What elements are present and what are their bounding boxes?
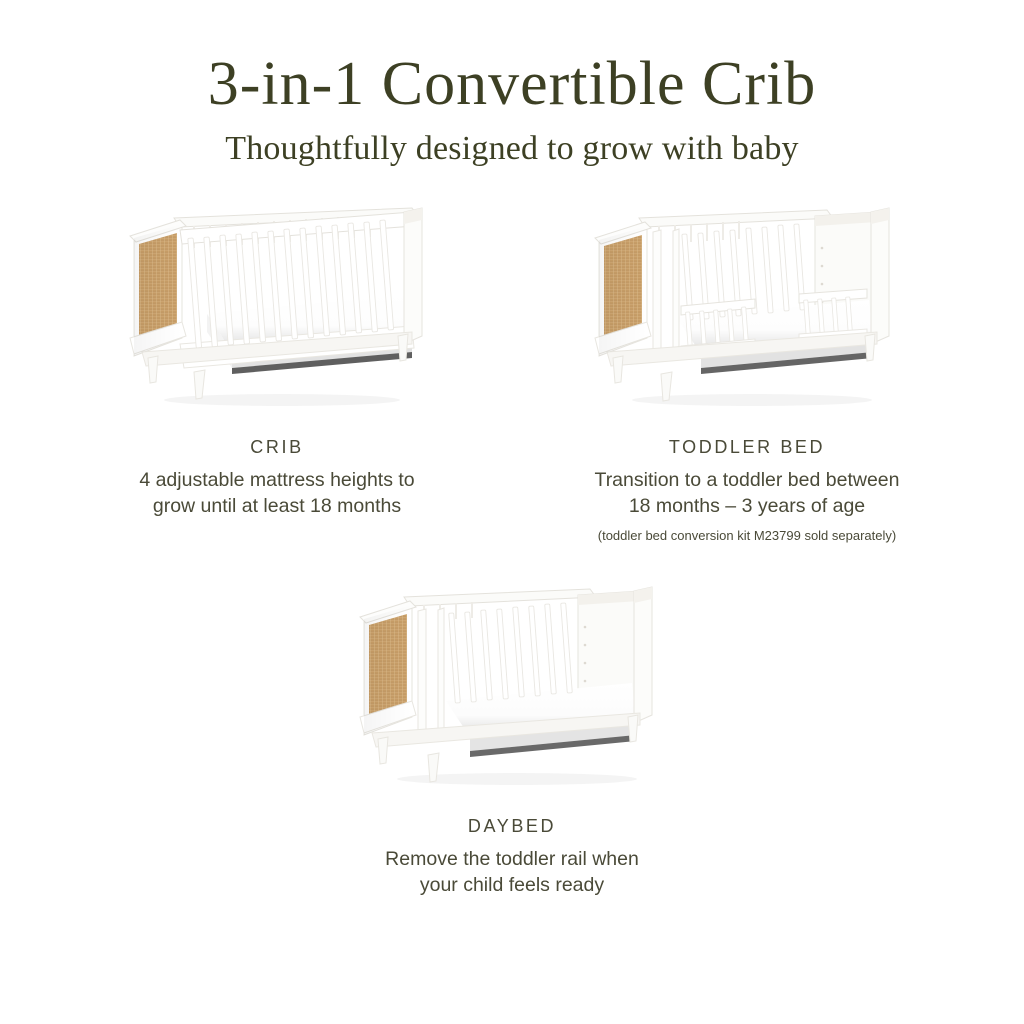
daybed-illustration xyxy=(342,565,682,790)
caption-footnote: (toddler bed conversion kit M23799 sold … xyxy=(595,528,900,545)
caption-line-1: Remove the toddler rail when xyxy=(385,846,639,872)
crib-illustration xyxy=(112,186,442,411)
caption-daybed: DAYBED Remove the toddler rail when your… xyxy=(385,816,639,898)
caption-title: DAYBED xyxy=(385,816,639,837)
product-card-daybed: DAYBED Remove the toddler rail when your… xyxy=(277,565,747,898)
caption-line-1: 4 adjustable mattress heights to xyxy=(139,467,414,493)
caption-title: TODDLER BED xyxy=(595,437,900,458)
caption-line-2: grow until at least 18 months xyxy=(139,493,414,519)
product-card-crib: CRIB 4 adjustable mattress heights to gr… xyxy=(42,186,512,519)
product-row-bottom: DAYBED Remove the toddler rail when your… xyxy=(0,565,1024,898)
infographic-page: 3-in-1 Convertible Crib Thoughtfully des… xyxy=(0,0,1024,1024)
caption-line-2: 18 months – 3 years of age xyxy=(595,493,900,519)
caption-title: CRIB xyxy=(139,437,414,458)
caption-crib: CRIB 4 adjustable mattress heights to gr… xyxy=(139,437,414,519)
header: 3-in-1 Convertible Crib Thoughtfully des… xyxy=(0,0,1024,168)
page-subtitle: Thoughtfully designed to grow with baby xyxy=(0,130,1024,167)
toddler-bed-illustration xyxy=(577,186,917,411)
caption-line-1: Transition to a toddler bed between xyxy=(595,467,900,493)
product-row-top: CRIB 4 adjustable mattress heights to gr… xyxy=(0,186,1024,545)
page-title: 3-in-1 Convertible Crib xyxy=(0,52,1024,116)
product-card-toddler-bed: TODDLER BED Transition to a toddler bed … xyxy=(512,186,982,545)
caption-toddler-bed: TODDLER BED Transition to a toddler bed … xyxy=(595,437,900,545)
caption-line-2: your child feels ready xyxy=(385,872,639,898)
